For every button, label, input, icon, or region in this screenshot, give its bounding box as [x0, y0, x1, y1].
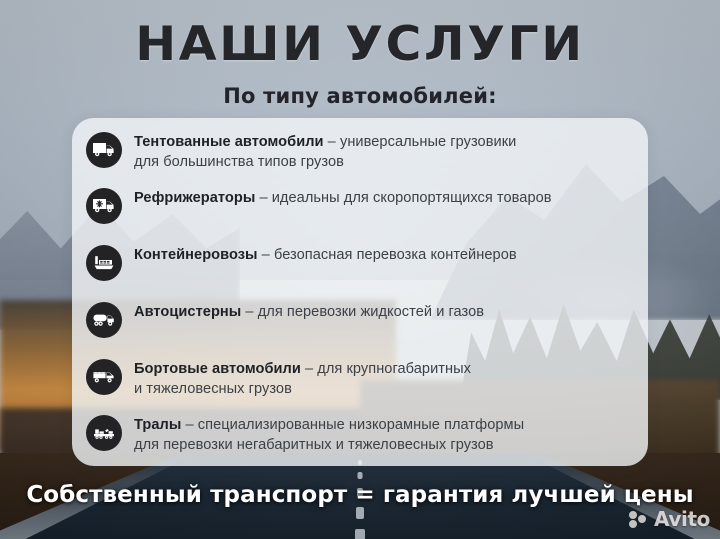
- separator: –: [301, 361, 317, 377]
- list-item-text: Тентованные автомобили – универсальные г…: [134, 130, 516, 172]
- page-subtitle: По типу автомобилей:: [0, 84, 720, 108]
- box-truck-icon: [86, 132, 122, 168]
- list-item: Контейнеровозы – безопасная перевозка ко…: [86, 243, 632, 292]
- avito-watermark: Avito: [629, 507, 710, 531]
- page-title: НАШИ УСЛУГИ: [0, 20, 720, 70]
- service-name: Тралы: [134, 417, 181, 433]
- service-description-1: специализированные низкорамные платформы: [198, 417, 524, 433]
- footer-tagline: Собственный транспорт = гарантия лучшей …: [0, 482, 720, 508]
- container-ship-icon: [86, 245, 122, 281]
- separator: –: [181, 417, 197, 433]
- avito-watermark-label: Avito: [654, 507, 710, 531]
- refrigerated-truck-icon: [86, 188, 122, 224]
- separator: –: [255, 190, 271, 206]
- list-item-text: Бортовые автомобили – для крупногабаритн…: [134, 357, 471, 399]
- service-description-1: безопасная перевозка контейнеров: [274, 247, 517, 263]
- list-item: Бортовые автомобили – для крупногабаритн…: [86, 357, 632, 406]
- service-description-2: и тяжеловесных грузов: [134, 381, 292, 397]
- list-item: Тентованные автомобили – универсальные г…: [86, 130, 632, 179]
- service-description-1: универсальные грузовики: [340, 134, 516, 150]
- tanker-truck-icon: [86, 302, 122, 338]
- list-item-text: Тралы – специализированные низкорамные п…: [134, 413, 524, 455]
- service-name: Рефрижераторы: [134, 190, 255, 206]
- service-description-2: для большинства типов грузов: [134, 154, 344, 170]
- list-item-text: Контейнеровозы – безопасная перевозка ко…: [134, 243, 517, 266]
- services-card: Тентованные автомобили – универсальные г…: [72, 118, 648, 466]
- service-description-1: идеальны для скоропортящихся товаров: [272, 190, 552, 206]
- list-item-text: Рефрижераторы – идеальны для скоропортящ…: [134, 186, 552, 209]
- service-name: Автоцистерны: [134, 304, 241, 320]
- service-description-1: для перевозки жидкостей и газов: [258, 304, 484, 320]
- lowboy-trailer-icon: [86, 415, 122, 451]
- flatbed-truck-icon: [86, 359, 122, 395]
- list-item: Рефрижераторы – идеальны для скоропортящ…: [86, 186, 632, 235]
- separator: –: [258, 247, 274, 263]
- service-name: Тентованные автомобили: [134, 134, 324, 150]
- separator: –: [324, 134, 340, 150]
- service-description-1: для крупногабаритных: [317, 361, 471, 377]
- list-item: Тралы – специализированные низкорамные п…: [86, 413, 632, 462]
- service-name: Контейнеровозы: [134, 247, 258, 263]
- avito-logo-icon: [629, 510, 651, 528]
- list-item: Автоцистерны – для перевозки жидкостей и…: [86, 300, 632, 349]
- service-name: Бортовые автомобили: [134, 361, 301, 377]
- list-item-text: Автоцистерны – для перевозки жидкостей и…: [134, 300, 484, 323]
- separator: –: [241, 304, 257, 320]
- promo-content: НАШИ УСЛУГИ По типу автомобилей: Тентова…: [0, 0, 720, 539]
- service-description-2: для перевозки негабаритных и тяжеловесны…: [134, 437, 494, 453]
